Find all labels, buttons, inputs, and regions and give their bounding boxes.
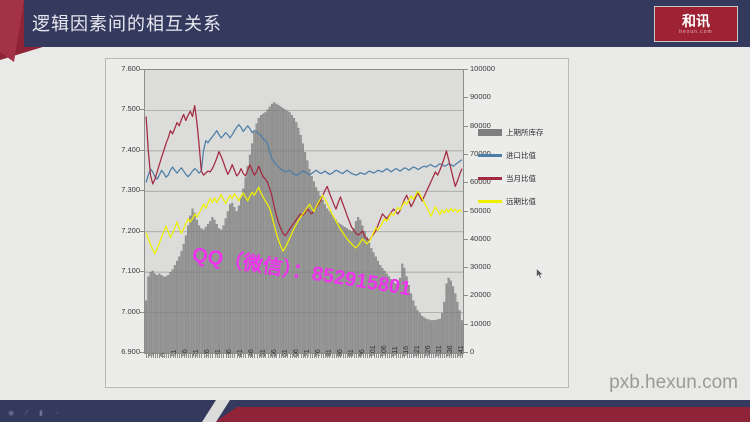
x-axis-minor-tick [234, 354, 235, 358]
x-axis-minor-tick [422, 354, 423, 358]
legend-swatch-line [478, 154, 502, 157]
x-axis-minor-tick [292, 354, 293, 358]
x-axis-minor-tick [268, 354, 269, 358]
x-axis-minor-tick [327, 354, 328, 358]
x-axis-minor-tick [312, 354, 313, 358]
x-axis-minor-tick [396, 354, 397, 358]
chart-plot-area [144, 69, 464, 354]
x-axis-minor-tick [294, 354, 295, 358]
x-axis-minor-tick [296, 354, 297, 358]
chart-container: 6.9007.0007.1007.2007.3007.4007.5007.600… [105, 58, 569, 388]
x-axis-minor-tick [431, 354, 432, 358]
x-axis-minor-tick [360, 354, 361, 358]
x-axis-minor-tick [146, 354, 147, 358]
x-axis-minor-tick [215, 354, 216, 358]
legend-item[interactable]: 当月比值 [478, 167, 570, 190]
x-axis-minor-tick [232, 354, 233, 358]
x-axis-minor-tick [270, 354, 271, 358]
x-axis-minor-tick [420, 354, 421, 358]
x-axis-minor-tick [354, 354, 355, 358]
legend-item[interactable]: 进口比值 [478, 144, 570, 167]
x-axis-minor-tick [363, 354, 364, 358]
x-axis-minor-tick [404, 354, 405, 358]
x-axis-minor-tick [208, 354, 209, 358]
x-axis-minor-tick [175, 354, 176, 358]
footer-red-accent [215, 407, 750, 422]
right-axis-tick: 0 [470, 347, 510, 356]
x-axis-minor-tick [318, 354, 319, 358]
x-axis-labels: 1611162126313641465156616671768186919610… [144, 355, 464, 389]
left-axis-tick-mark [140, 231, 144, 232]
x-axis-minor-tick [305, 354, 306, 358]
x-axis-minor-tick [197, 354, 198, 358]
x-axis-minor-tick [219, 354, 220, 358]
x-axis-minor-tick [168, 354, 169, 358]
x-axis-minor-tick [301, 354, 302, 358]
left-axis-tick-mark [140, 69, 144, 70]
x-axis-minor-tick [245, 354, 246, 358]
x-axis-minor-tick [398, 354, 399, 358]
x-axis-minor-tick [433, 354, 434, 358]
x-axis-minor-tick [371, 354, 372, 358]
x-axis-minor-tick [307, 354, 308, 358]
legend-item[interactable]: 远期比值 [478, 190, 570, 213]
right-axis-tick: 20000 [470, 290, 510, 299]
x-axis-minor-tick [226, 354, 227, 358]
right-axis-tick-mark [464, 69, 468, 70]
left-axis-tick-mark [140, 190, 144, 191]
x-axis-minor-tick [285, 354, 286, 358]
x-axis-minor-tick [323, 354, 324, 358]
x-axis-minor-tick [237, 354, 238, 358]
x-axis-minor-tick [173, 354, 174, 358]
x-axis-minor-tick [418, 354, 419, 358]
x-axis-minor-tick [334, 354, 335, 358]
legend-label: 远期比值 [506, 196, 536, 207]
right-axis-tick: 100000 [470, 64, 510, 73]
x-axis-minor-tick [438, 354, 439, 358]
x-axis-minor-tick [349, 354, 350, 358]
x-axis-minor-tick [429, 354, 430, 358]
left-axis-tick: 7.100 [106, 266, 140, 275]
x-axis-minor-tick [281, 354, 282, 358]
x-axis-minor-tick [336, 354, 337, 358]
x-axis-minor-tick [250, 354, 251, 358]
x-axis-minor-tick [162, 354, 163, 358]
x-axis-minor-tick [374, 354, 375, 358]
legend-label: 上期所库存 [506, 127, 544, 138]
x-axis-minor-tick [325, 354, 326, 358]
page-title: 逻辑因素间的相互关系 [32, 10, 222, 36]
legend-swatch-line [478, 177, 502, 180]
site-watermark: pxb.hexun.com [609, 372, 738, 394]
x-axis-minor-tick [298, 354, 299, 358]
x-axis-minor-tick [248, 354, 249, 358]
x-axis-minor-tick [321, 354, 322, 358]
x-axis-minor-tick [444, 354, 445, 358]
x-axis-minor-tick [462, 354, 463, 358]
x-axis-minor-tick [164, 354, 165, 358]
left-axis-tick-mark [140, 352, 144, 353]
x-axis-minor-tick [184, 354, 185, 358]
x-axis-minor-tick [151, 354, 152, 358]
x-axis-minor-tick [316, 354, 317, 358]
x-axis-minor-tick [338, 354, 339, 358]
x-axis-minor-tick [385, 354, 386, 358]
x-axis-minor-tick [212, 354, 213, 358]
right-axis-tick-mark [464, 295, 468, 296]
left-axis-tick: 7.500 [106, 104, 140, 113]
x-axis-minor-tick [157, 354, 158, 358]
x-axis-minor-tick [369, 354, 370, 358]
x-axis-minor-tick [181, 354, 182, 358]
x-axis-minor-tick [223, 354, 224, 358]
right-axis-tick: 90000 [470, 92, 510, 101]
legend-swatch-line [478, 200, 502, 203]
x-axis-minor-tick [188, 354, 189, 358]
x-axis-minor-tick [221, 354, 222, 358]
x-axis-minor-tick [177, 354, 178, 358]
left-axis-tick-mark [140, 109, 144, 110]
x-axis-minor-tick [310, 354, 311, 358]
right-axis-tick-mark [464, 239, 468, 240]
x-axis-minor-tick [442, 354, 443, 358]
slide: 逻辑因素间的相互关系 和讯 hexun.com 6.9007.0007.1007… [0, 0, 750, 422]
x-axis-minor-tick [204, 354, 205, 358]
left-axis-tick: 7.300 [106, 185, 140, 194]
x-axis-minor-tick [446, 354, 447, 358]
legend-label: 当月比值 [506, 173, 536, 184]
x-axis-minor-tick [409, 354, 410, 358]
x-axis-minor-tick [400, 354, 401, 358]
x-axis-minor-tick [424, 354, 425, 358]
chart-svg [145, 70, 463, 353]
x-axis-minor-tick [378, 354, 379, 358]
x-axis-minor-tick [365, 354, 366, 358]
x-axis-minor-tick [243, 354, 244, 358]
x-axis-minor-tick [239, 354, 240, 358]
right-axis-tick-mark [464, 267, 468, 268]
x-axis-minor-tick [201, 354, 202, 358]
logo-subtext: hexun.com [679, 30, 712, 35]
x-axis-minor-tick [376, 354, 377, 358]
x-axis-minor-tick [228, 354, 229, 358]
x-axis-minor-tick [206, 354, 207, 358]
right-axis-tick-mark [464, 154, 468, 155]
x-axis-minor-tick [210, 354, 211, 358]
x-axis-minor-tick [453, 354, 454, 358]
x-axis-minor-tick [153, 354, 154, 358]
left-axis-tick-mark [140, 271, 144, 272]
x-axis-minor-tick [389, 354, 390, 358]
left-axis-tick: 7.400 [106, 145, 140, 154]
mouse-cursor-icon [536, 268, 544, 279]
x-axis-minor-tick [460, 354, 461, 358]
x-axis-minor-tick [427, 354, 428, 358]
x-axis-minor-tick [186, 354, 187, 358]
x-axis-minor-tick [332, 354, 333, 358]
left-axis-tick-mark [140, 150, 144, 151]
x-axis-minor-tick [241, 354, 242, 358]
x-axis-minor-tick [451, 354, 452, 358]
right-axis-tick: 40000 [470, 234, 510, 243]
x-axis-minor-tick [263, 354, 264, 358]
right-axis-tick-mark [464, 182, 468, 183]
x-axis-minor-tick [340, 354, 341, 358]
x-axis-minor-tick [440, 354, 441, 358]
x-axis-minor-tick [402, 354, 403, 358]
x-axis-minor-tick [148, 354, 149, 358]
x-axis-minor-tick [314, 354, 315, 358]
right-axis-tick: 30000 [470, 262, 510, 271]
chart-legend: 上期所库存进口比值当月比值远期比值 [478, 121, 570, 213]
logo-text: 和讯 [682, 14, 710, 28]
x-axis-minor-tick [274, 354, 275, 358]
x-axis-minor-tick [166, 354, 167, 358]
x-axis-minor-tick [279, 354, 280, 358]
left-axis-tick: 7.600 [106, 64, 140, 73]
x-axis-minor-tick [192, 354, 193, 358]
x-axis-minor-tick [155, 354, 156, 358]
x-axis-minor-tick [435, 354, 436, 358]
x-axis-minor-tick [252, 354, 253, 358]
footer-icons: ◉ ⁄ ▮ ◦ [8, 409, 62, 417]
x-axis-minor-tick [195, 354, 196, 358]
x-axis-minor-tick [272, 354, 273, 358]
x-axis-minor-tick [287, 354, 288, 358]
x-axis-minor-tick [356, 354, 357, 358]
x-axis-minor-tick [407, 354, 408, 358]
x-axis-minor-tick [259, 354, 260, 358]
x-axis-minor-tick [170, 354, 171, 358]
x-axis-minor-tick [391, 354, 392, 358]
legend-swatch-bar [478, 129, 502, 136]
x-axis-minor-tick [199, 354, 200, 358]
x-axis-minor-tick [343, 354, 344, 358]
x-axis-minor-tick [387, 354, 388, 358]
legend-item[interactable]: 上期所库存 [478, 121, 570, 144]
x-axis-minor-tick [393, 354, 394, 358]
right-axis-tick: 10000 [470, 319, 510, 328]
x-axis-minor-tick [455, 354, 456, 358]
left-axis-tick: 6.900 [106, 347, 140, 356]
x-axis-minor-tick [416, 354, 417, 358]
x-axis-minor-tick [345, 354, 346, 358]
left-axis-tick: 7.000 [106, 307, 140, 316]
x-axis-minor-tick [411, 354, 412, 358]
hexun-logo: 和讯 hexun.com [654, 6, 738, 42]
x-axis-minor-tick [179, 354, 180, 358]
x-axis-minor-tick [382, 354, 383, 358]
x-axis-minor-tick [413, 354, 414, 358]
x-axis-minor-tick [351, 354, 352, 358]
x-axis-minor-tick [303, 354, 304, 358]
x-axis-minor-tick [276, 354, 277, 358]
legend-label: 进口比值 [506, 150, 536, 161]
left-axis-tick-mark [140, 312, 144, 313]
x-axis-minor-tick [329, 354, 330, 358]
x-axis-minor-tick [190, 354, 191, 358]
x-axis-minor-tick [347, 354, 348, 358]
x-axis-minor-tick [380, 354, 381, 358]
x-axis-minor-tick [283, 354, 284, 358]
x-axis-minor-tick [217, 354, 218, 358]
x-axis-minor-tick [261, 354, 262, 358]
x-axis-minor-tick [367, 354, 368, 358]
x-axis-minor-tick [254, 354, 255, 358]
x-axis-minor-tick [358, 354, 359, 358]
x-axis-minor-tick [230, 354, 231, 358]
x-axis-minor-tick [457, 354, 458, 358]
x-axis-minor-tick [290, 354, 291, 358]
right-axis-tick-mark [464, 324, 468, 325]
x-axis-minor-tick [265, 354, 266, 358]
x-axis-minor-tick [449, 354, 450, 358]
right-axis-tick-mark [464, 97, 468, 98]
x-axis-minor-tick [257, 354, 258, 358]
right-axis-tick-mark [464, 211, 468, 212]
x-axis-minor-tick [159, 354, 160, 358]
left-axis-tick: 7.200 [106, 226, 140, 235]
right-axis-tick-mark [464, 126, 468, 127]
